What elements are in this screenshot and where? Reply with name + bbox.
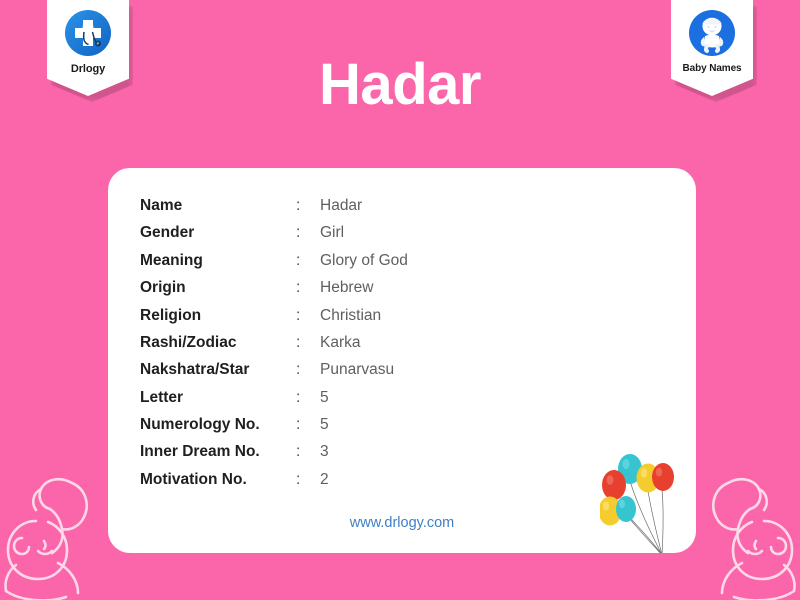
table-row: Numerology No. : 5 bbox=[140, 411, 408, 438]
row-value: Hebrew bbox=[320, 274, 408, 301]
row-separator: : bbox=[296, 302, 320, 329]
website-link[interactable]: www.drlogy.com bbox=[108, 515, 696, 531]
row-label: Numerology No. bbox=[140, 411, 296, 438]
table-row: Nakshatra/Star : Punarvasu bbox=[140, 356, 408, 383]
row-label: Religion bbox=[140, 302, 296, 329]
badge-baby-names[interactable]: Baby Names bbox=[671, 0, 753, 96]
balloons-illustration bbox=[600, 447, 692, 553]
row-label: Name bbox=[140, 192, 296, 219]
row-separator: : bbox=[296, 329, 320, 356]
row-separator: : bbox=[296, 356, 320, 383]
name-details-table: Name : Hadar Gender : Girl Meaning : Glo… bbox=[140, 192, 408, 493]
drlogy-medical-cross-icon: P bbox=[64, 9, 112, 57]
table-row: Letter : 5 bbox=[140, 384, 408, 411]
row-value: 5 bbox=[320, 411, 408, 438]
badge-drlogy[interactable]: P Drlogy bbox=[47, 0, 129, 96]
svg-text:P: P bbox=[97, 41, 100, 46]
row-label: Rashi/Zodiac bbox=[140, 329, 296, 356]
row-separator: : bbox=[296, 466, 320, 493]
row-value: Karka bbox=[320, 329, 408, 356]
row-value: Hadar bbox=[320, 192, 408, 219]
table-row: Origin : Hebrew bbox=[140, 274, 408, 301]
row-value: 3 bbox=[320, 439, 408, 466]
row-separator: : bbox=[296, 439, 320, 466]
table-row: Gender : Girl bbox=[140, 219, 408, 246]
row-label: Letter bbox=[140, 384, 296, 411]
name-detail-card: Name : Hadar Gender : Girl Meaning : Glo… bbox=[108, 168, 696, 553]
row-label: Motivation No. bbox=[140, 466, 296, 493]
table-body: Name : Hadar Gender : Girl Meaning : Glo… bbox=[140, 192, 408, 493]
row-label: Gender bbox=[140, 219, 296, 246]
row-separator: : bbox=[296, 219, 320, 246]
row-value: Christian bbox=[320, 302, 408, 329]
table-row: Religion : Christian bbox=[140, 302, 408, 329]
corner-art-mother-baby-right bbox=[684, 455, 800, 600]
row-label: Meaning bbox=[140, 247, 296, 274]
row-label: Nakshatra/Star bbox=[140, 356, 296, 383]
table-row: Rashi/Zodiac : Karka bbox=[140, 329, 408, 356]
baby-icon bbox=[688, 9, 736, 57]
row-label: Inner Dream No. bbox=[140, 439, 296, 466]
row-value: Glory of God bbox=[320, 247, 408, 274]
row-separator: : bbox=[296, 384, 320, 411]
row-separator: : bbox=[296, 274, 320, 301]
corner-art-mother-baby-left bbox=[0, 455, 116, 600]
row-value: 5 bbox=[320, 384, 408, 411]
row-value: Punarvasu bbox=[320, 356, 408, 383]
row-separator: : bbox=[296, 411, 320, 438]
row-value: 2 bbox=[320, 466, 408, 493]
badge-drlogy-label: Drlogy bbox=[71, 63, 105, 75]
row-value: Girl bbox=[320, 219, 408, 246]
row-label: Origin bbox=[140, 274, 296, 301]
table-row: Inner Dream No. : 3 bbox=[140, 439, 408, 466]
table-row: Motivation No. : 2 bbox=[140, 466, 408, 493]
table-row: Meaning : Glory of God bbox=[140, 247, 408, 274]
row-separator: : bbox=[296, 192, 320, 219]
row-separator: : bbox=[296, 247, 320, 274]
badge-baby-names-label: Baby Names bbox=[682, 63, 741, 74]
table-row: Name : Hadar bbox=[140, 192, 408, 219]
